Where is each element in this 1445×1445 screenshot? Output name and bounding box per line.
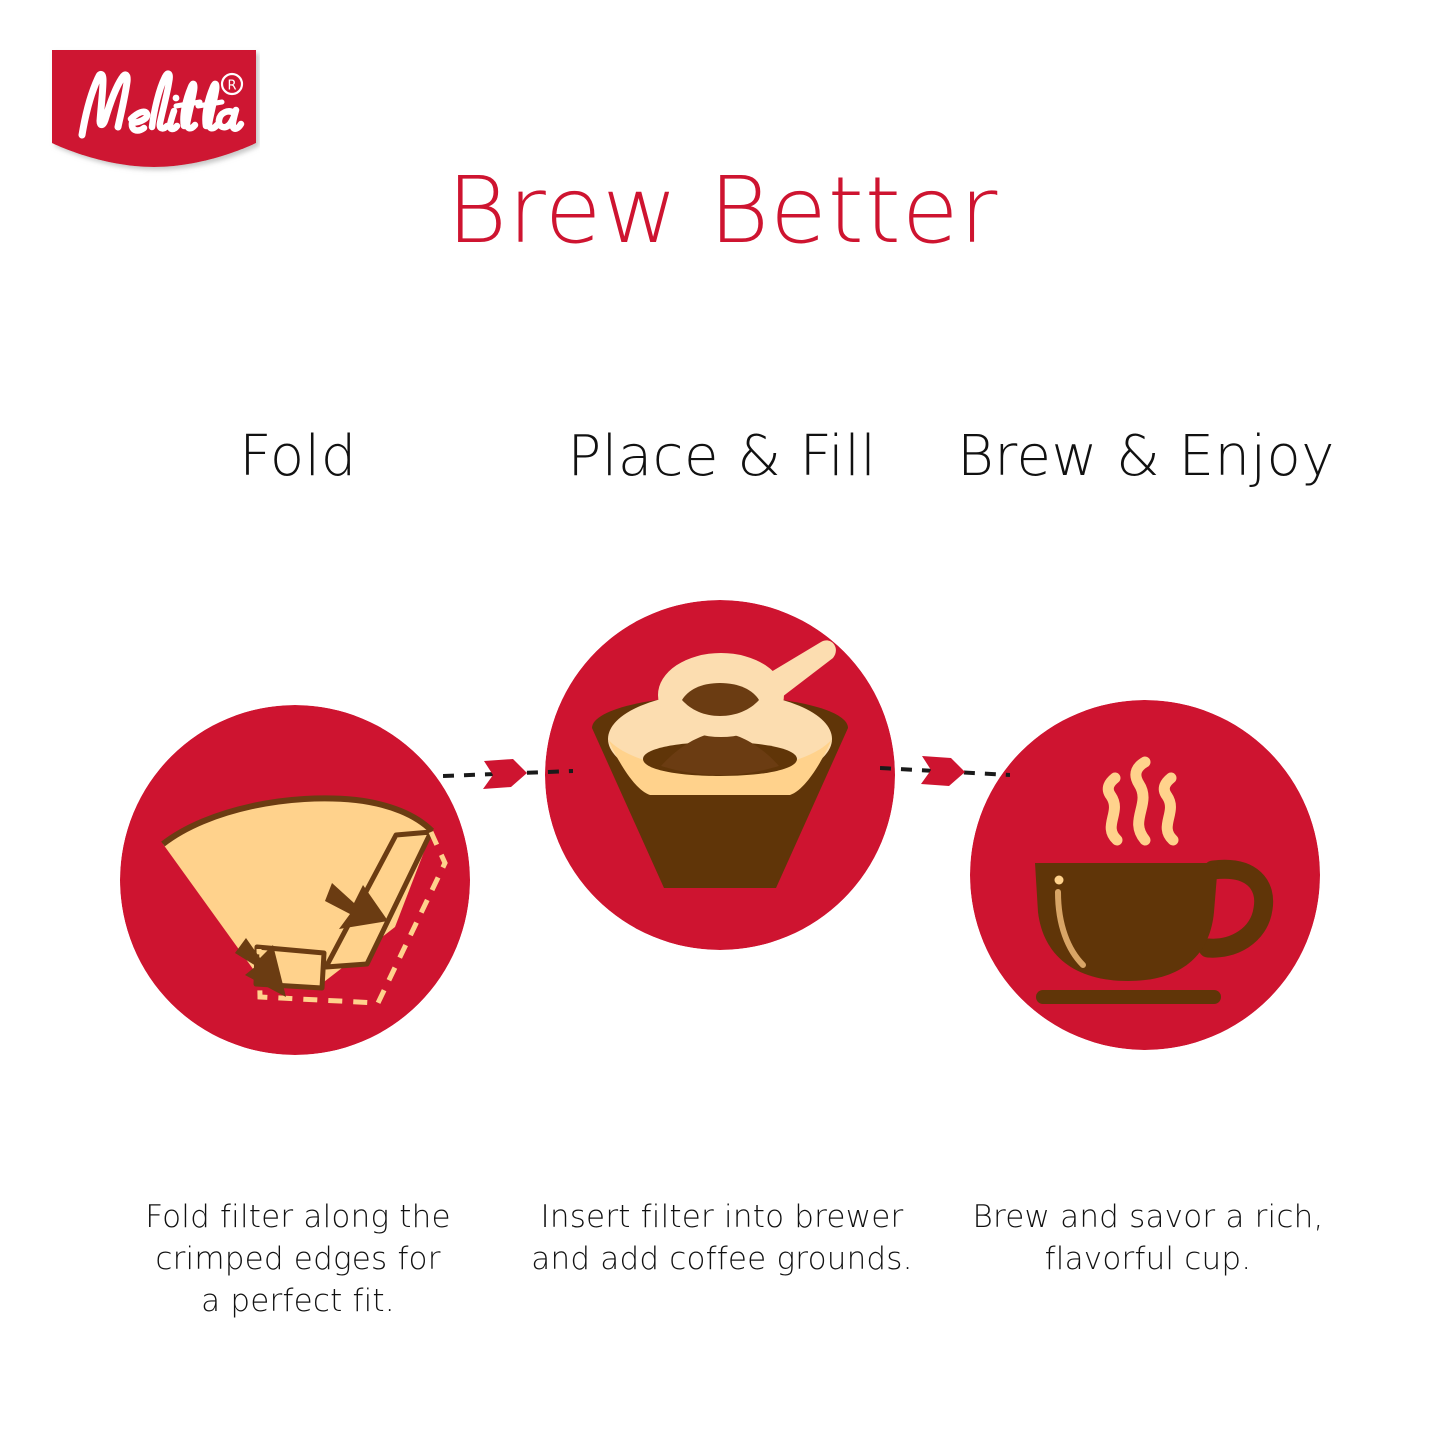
svg-text:R: R — [227, 79, 236, 94]
step-caption-brew-and-enjoy: Brew and savor a rich, flavorful cup. — [938, 1196, 1358, 1280]
connector-step2-step3 — [880, 742, 1010, 802]
step-illustration-place-and-fill — [545, 600, 895, 950]
page-title: Brew Better — [0, 160, 1445, 261]
step-illustration-brew-and-enjoy — [970, 700, 1320, 1050]
step-heading-fold: Fold — [239, 424, 357, 489]
cup-highlight-dot — [1055, 876, 1064, 885]
step-heading-place-and-fill: Place & Fill — [568, 424, 877, 489]
connector-step1-step2 — [443, 745, 573, 805]
step-heading-brew-and-enjoy: Brew & Enjoy — [957, 424, 1335, 489]
saucer-bar — [1036, 990, 1221, 1004]
step-caption-place-and-fill: Insert filter into brewer and add coffee… — [512, 1196, 932, 1280]
step-illustration-fold — [120, 705, 470, 1055]
step-caption-fold: Fold filter along the crimped edges for … — [88, 1196, 508, 1322]
infographic-page: R Brew Better Fold Place & Fill Brew & E… — [0, 0, 1445, 1445]
